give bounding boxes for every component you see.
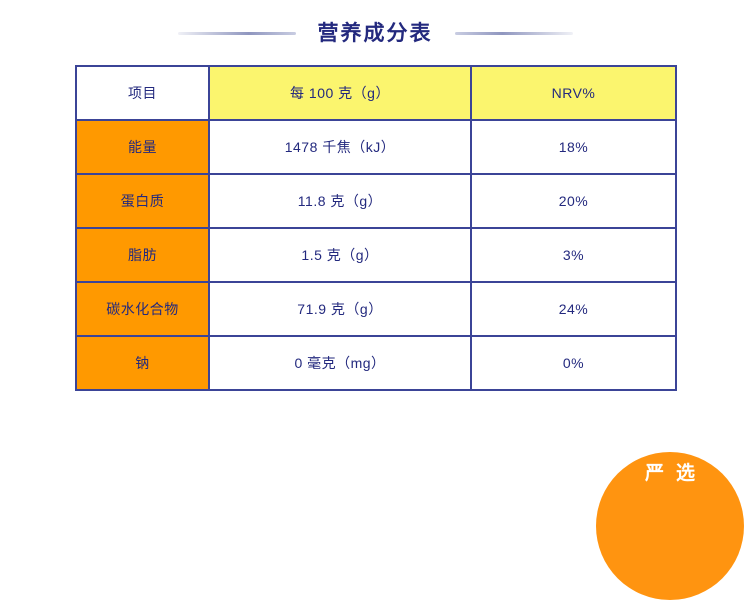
row-nrv-energy: 18% (471, 120, 676, 174)
row-nrv-sodium: 0% (471, 336, 676, 390)
header-cell-item: 项目 (76, 66, 209, 120)
nutrition-facts-table: 项目 每 100 克（g） NRV% 能量 1478 千焦（kJ） 18% 蛋白… (75, 65, 677, 391)
table-header-row: 项目 每 100 克（g） NRV% (76, 66, 676, 120)
table-row: 碳水化合物 71.9 克（g） 24% (76, 282, 676, 336)
row-amount-sodium: 0 毫克（mg） (209, 336, 471, 390)
title-rule-right-decoration (455, 32, 573, 35)
row-nrv-fat: 3% (471, 228, 676, 282)
page-title-block: 营养成分表 (0, 16, 750, 50)
title-rule-left-decoration (178, 32, 296, 35)
row-amount-carbohydrate: 71.9 克（g） (209, 282, 471, 336)
row-amount-fat: 1.5 克（g） (209, 228, 471, 282)
table-row: 能量 1478 千焦（kJ） 18% (76, 120, 676, 174)
table-row: 蛋白质 11.8 克（g） 20% (76, 174, 676, 228)
row-amount-energy: 1478 千焦（kJ） (209, 120, 471, 174)
row-label-protein: 蛋白质 (76, 174, 209, 228)
selection-badge-label: 严选 (596, 458, 744, 485)
table-row: 钠 0 毫克（mg） 0% (76, 336, 676, 390)
row-nrv-protein: 20% (471, 174, 676, 228)
row-label-fat: 脂肪 (76, 228, 209, 282)
row-amount-protein: 11.8 克（g） (209, 174, 471, 228)
row-label-carbohydrate: 碳水化合物 (76, 282, 209, 336)
selection-badge: 严选 (596, 452, 744, 600)
row-nrv-carbohydrate: 24% (471, 282, 676, 336)
row-label-sodium: 钠 (76, 336, 209, 390)
page-title: 营养成分表 (318, 23, 433, 44)
table-row: 脂肪 1.5 克（g） 3% (76, 228, 676, 282)
header-cell-nrv: NRV% (471, 66, 676, 120)
row-label-energy: 能量 (76, 120, 209, 174)
header-cell-per-100g: 每 100 克（g） (209, 66, 471, 120)
